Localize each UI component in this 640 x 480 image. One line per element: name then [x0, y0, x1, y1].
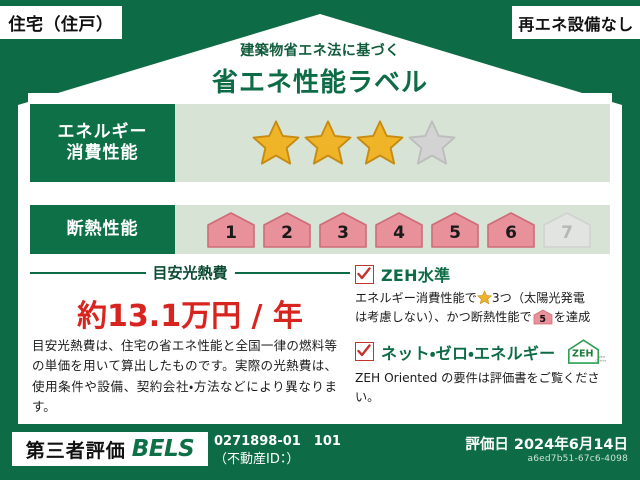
insulation-performance-row: 断熱性能 1234567 — [30, 205, 610, 254]
insulation-level-badge: 1 — [205, 210, 257, 250]
star-filled-icon — [354, 118, 406, 168]
cost-disclaimer-note: 目安光熱費は、住宅の省エネ性能と全国一律の燃料等の単価を用いて算出したものです。… — [32, 336, 337, 417]
insulation-level-number: 4 — [373, 223, 425, 243]
insulation-performance-label: 断熱性能 — [30, 205, 175, 254]
bels-en-text: BELS — [132, 436, 194, 462]
bels-jp-text: 第三者評価 — [26, 436, 126, 463]
insulation-level-badge: 6 — [485, 210, 537, 250]
footer-bar: 第三者評価 BELS 0271898-01 101 （不動産ID：） 評価日 2… — [0, 424, 640, 480]
zeh-criteria-block: ZEH水準 エネルギー消費性能で3つ（太陽光発電 は考慮しない）、かつ断熱性能で… — [355, 262, 617, 418]
insulation-level-number: 3 — [317, 223, 369, 243]
star-filled-icon — [302, 118, 354, 168]
svg-text:ZEH: ZEH — [573, 348, 594, 359]
energy-performance-row: エネルギー 消費性能 — [30, 104, 610, 182]
zeh-item-net-zero: ネット・ゼロ・エネルギー ZEH ZEH Oriented ZEH Orient… — [355, 338, 617, 407]
building-type-tag: 住宅（住戸） — [0, 6, 122, 39]
renewable-equipment-tag: 再エネ設備なし — [512, 6, 640, 39]
title-subtitle: 建築物省エネ法に基づく — [0, 40, 640, 60]
insulation-level-number: 2 — [261, 223, 313, 243]
cost-rule-right — [235, 272, 351, 274]
cost-value: 約13.1万円 / 年 — [30, 291, 350, 335]
bels-logo-plate: 第三者評価 BELS — [12, 432, 208, 466]
title-main: 省エネ性能ラベル — [0, 62, 640, 99]
svg-text:Oriented: Oriented — [596, 358, 606, 362]
insulation-level-number: 5 — [429, 223, 481, 243]
zeh-desc-part3: を達成 — [554, 310, 591, 324]
zeh-net-zero-head: ネット・ゼロ・エネルギー ZEH ZEH Oriented — [355, 338, 617, 366]
label-title: 建築物省エネ法に基づく 省エネ性能ラベル — [0, 40, 640, 99]
insulation-level-badge: 7 — [541, 210, 593, 250]
insulation-level-badge: 4 — [373, 210, 425, 250]
inline-house-badge-number: 5 — [533, 313, 553, 328]
zeh-standard-head: ZEH水準 — [355, 262, 617, 286]
evaluation-date: 評価日 2024年6月14日 — [465, 433, 628, 454]
zeh-logo-icon: ZEH ZEH Oriented — [564, 338, 606, 366]
energy-performance-label: エネルギー 消費性能 — [30, 104, 175, 182]
inline-star-icon — [477, 290, 492, 305]
energy-star-rating — [175, 104, 610, 182]
zeh-item-standard: ZEH水準 エネルギー消費性能で3つ（太陽光発電 は考慮しない）、かつ断熱性能で… — [355, 262, 617, 327]
insulation-label-text: 断熱性能 — [67, 219, 139, 240]
certificate-number: 0271898-01 101 — [214, 433, 341, 451]
insulation-level-scale: 1234567 — [175, 205, 610, 254]
zeh-net-zero-title: ネット・ゼロ・エネルギー — [381, 340, 555, 364]
star-empty-icon — [406, 118, 458, 168]
zeh-desc-part1: エネルギー消費性能で — [355, 291, 477, 305]
inline-house-badge-icon: 5 — [533, 309, 553, 325]
insulation-level-badge: 3 — [317, 210, 369, 250]
zeh-desc-stars: 3つ（太陽光発電 — [492, 291, 585, 305]
checkbox-checked-icon — [355, 265, 374, 284]
cost-rule-left — [30, 272, 146, 274]
checkbox-checked-icon — [355, 342, 374, 361]
insulation-level-badge: 5 — [429, 210, 481, 250]
zeh-desc-part2: は考慮しない）、かつ断熱性能で — [355, 310, 532, 324]
estimated-utility-cost-block: 目安光熱費 約13.1万円 / 年 — [30, 262, 350, 335]
energy-label-line1: エネルギー — [58, 122, 148, 143]
zeh-net-zero-desc: ZEH Oriented の要件は評価書をご覧ください。 — [355, 369, 617, 407]
cost-heading-row: 目安光熱費 — [30, 262, 350, 283]
insulation-level-number: 6 — [485, 223, 537, 243]
insulation-level-number: 1 — [205, 223, 257, 243]
insulation-level-number: 7 — [541, 223, 593, 243]
cost-heading: 目安光熱費 — [153, 262, 228, 283]
certificate-number-block: 0271898-01 101 （不動産ID：） — [214, 433, 341, 468]
insulation-level-badge: 2 — [261, 210, 313, 250]
star-filled-icon — [250, 118, 302, 168]
zeh-standard-title: ZEH水準 — [381, 262, 450, 286]
zeh-standard-desc: エネルギー消費性能で3つ（太陽光発電 は考慮しない）、かつ断熱性能で5を達成 — [355, 289, 617, 327]
bels-energy-label: 住宅（住戸） 再エネ設備なし 建築物省エネ法に基づく 省エネ性能ラベル エネルギ… — [0, 0, 640, 480]
energy-label-line2: 消費性能 — [67, 143, 139, 164]
real-estate-id-label: （不動産ID：） — [214, 451, 341, 469]
evaluation-hash: a6ed7b51-67c6-4098 — [527, 454, 628, 464]
